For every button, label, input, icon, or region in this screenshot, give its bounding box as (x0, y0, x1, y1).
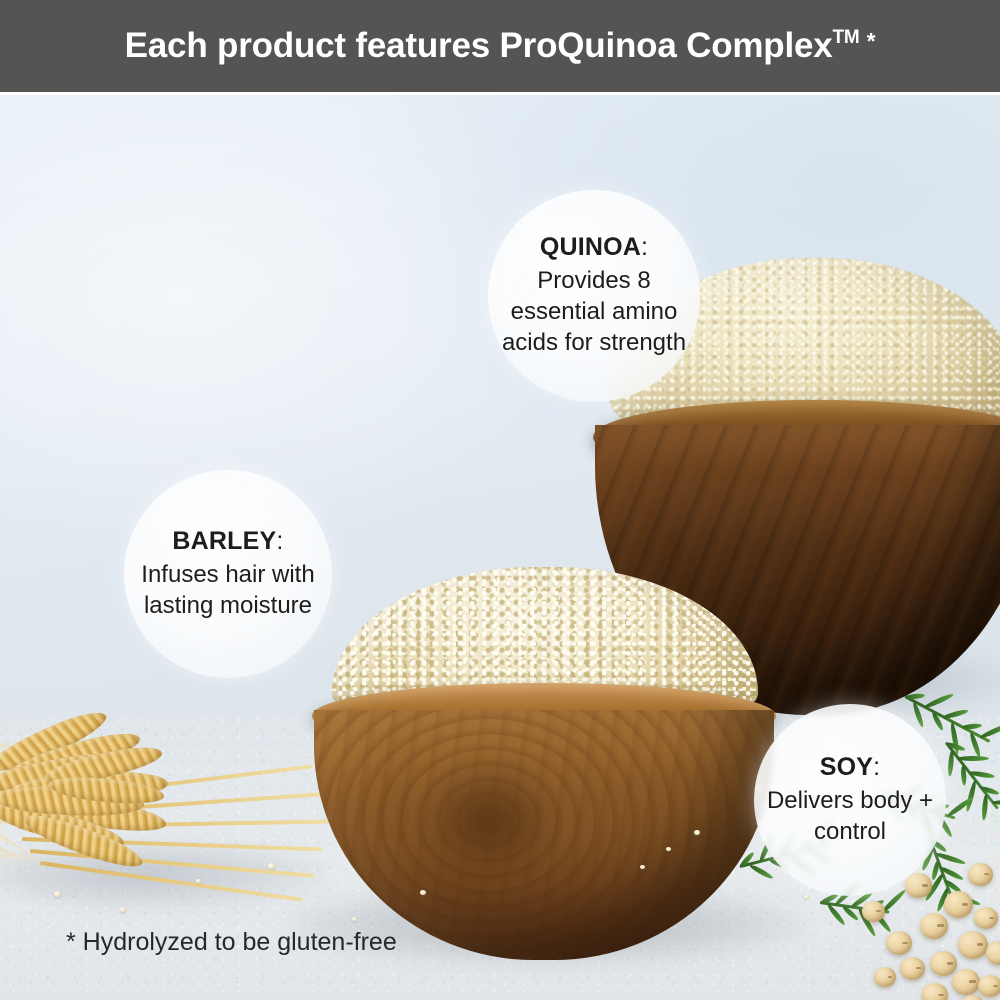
callout-quinoa-colon: : (641, 233, 648, 261)
quinoa-seed (640, 865, 645, 869)
page-title-text: Each product features ProQuinoa Complex (125, 26, 833, 66)
quinoa-seed (420, 890, 426, 895)
product-ingredient-infographic: Each product features ProQuinoa ComplexT… (0, 0, 1000, 1000)
callout-barley-title: BARLEY: (172, 527, 283, 557)
callout-quinoa: QUINOA: Provides 8 essential amino acids… (488, 190, 700, 402)
quinoa-seed (54, 891, 61, 897)
callout-barley: BARLEY: Infuses hair with lasting moistu… (124, 470, 332, 678)
trademark-symbol: TM (833, 27, 860, 49)
callout-soy-body: Delivers body + control (754, 785, 946, 847)
callout-soy: SOY: Delivers body + control (754, 704, 946, 896)
callout-quinoa-title-text: QUINOA (540, 233, 641, 261)
callout-soy-title: SOY: (820, 753, 881, 783)
callout-soy-colon: : (873, 753, 880, 781)
callout-soy-title-text: SOY (820, 753, 873, 781)
callout-barley-title-text: BARLEY (172, 527, 276, 555)
page-title: Each product features ProQuinoa ComplexT… (125, 26, 876, 66)
footnote: * Hydrolyzed to be gluten-free (66, 928, 397, 957)
header-bar: Each product features ProQuinoa ComplexT… (0, 0, 1000, 92)
callout-barley-colon: : (276, 527, 283, 555)
callout-quinoa-body: Provides 8 essential amino acids for str… (488, 265, 700, 359)
title-asterisk: * (867, 28, 876, 55)
callout-barley-body: Infuses hair with lasting moisture (124, 559, 332, 621)
quinoa-seed (120, 907, 126, 912)
quinoa-seed (666, 847, 671, 851)
callout-quinoa-title: QUINOA: (540, 233, 648, 263)
quinoa-seed (196, 879, 201, 883)
quinoa-seed (268, 863, 275, 869)
quinoa-seed (694, 830, 700, 835)
quinoa-seed (352, 917, 357, 921)
quinoa-seed (804, 895, 809, 899)
